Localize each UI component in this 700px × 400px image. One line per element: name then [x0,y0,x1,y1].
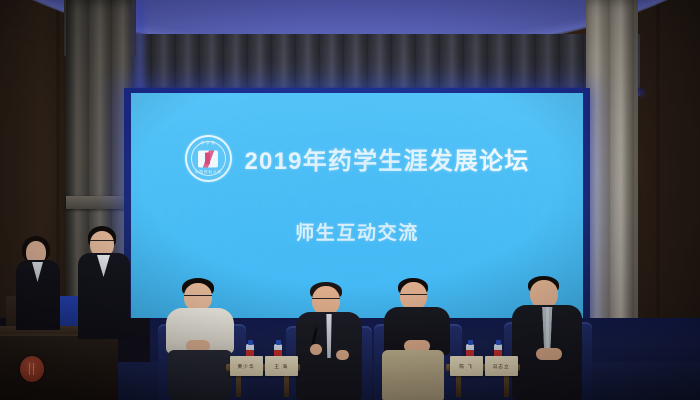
microphone-head [311,322,318,329]
person-standing-man [78,226,130,338]
slide-title-row: 药 学 院 中 国 药 科 大 学 2019年药学生涯发展论坛 [131,135,583,182]
emblem-ring-text-top: 药 学 院 [187,142,230,146]
nameplate-text: 冯志立 [493,363,510,370]
nameplate-text: 黄少华 [238,363,255,370]
slide-subtitle: 师生互动交流 [131,218,583,245]
nameplate: 陈 飞 [450,356,483,376]
glasses-icon [400,294,427,298]
podium [0,334,118,400]
university-emblem-icon: 药 学 院 中 国 药 科 大 学 [185,135,232,182]
nameplate: 王 海 [265,356,298,376]
person-panelist-3 [382,278,452,400]
left-curtain-tieback [66,196,132,209]
person-standing-woman [16,236,60,328]
head [530,280,558,308]
legs-khaki-trousers [382,350,444,400]
legs-trousers [168,350,232,400]
stage-valance-curtain [80,34,640,96]
person-panelist-4 [512,276,582,400]
hand-resting [336,350,349,360]
nameplate: 黄少华 [230,356,263,376]
institutional-seal-icon [20,356,44,382]
nameplate: 冯志立 [485,356,518,376]
hand-holding-mic [310,344,322,355]
glasses-icon [312,298,340,302]
emblem-ring-text-bottom: 中 国 药 科 大 学 [187,171,230,175]
emblem-center-mark [198,150,218,167]
nameplate-text: 王 海 [275,363,289,370]
person-panelist-2-speaker [296,282,362,400]
auditorium-photo: 药 学 院 中 国 药 科 大 学 2019年药学生涯发展论坛 师生互动交流 [0,0,700,400]
glasses-icon [184,295,212,299]
nameplate-text: 陈 飞 [460,363,474,370]
slide-title: 2019年药学生涯发展论坛 [245,141,530,176]
hands [536,348,562,360]
glasses-icon [90,240,114,244]
person-panelist-1 [166,278,234,400]
